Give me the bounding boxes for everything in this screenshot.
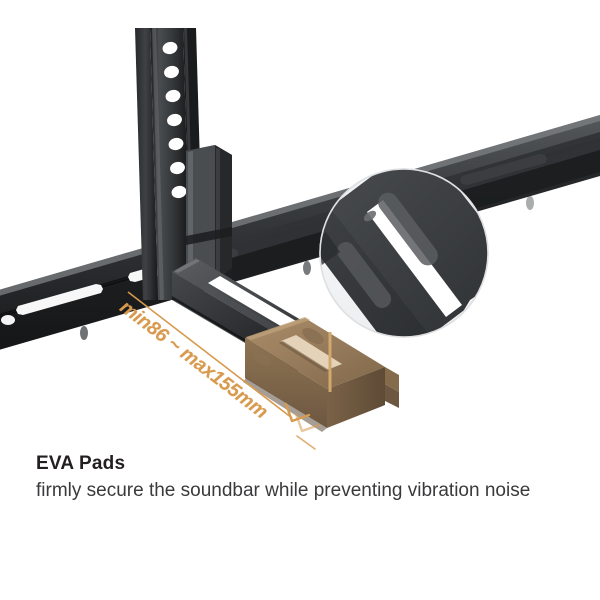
product-illustration-page: min86 ~ max155mm EVA Pads firmly secure …	[0, 0, 600, 600]
caption-title: EVA Pads	[36, 452, 592, 476]
mount-illustration	[0, 0, 600, 460]
eva-pad	[243, 317, 399, 432]
caption-body: firmly secure the soundbar while prevent…	[36, 478, 592, 504]
caption-block: EVA Pads firmly secure the soundbar whil…	[36, 452, 592, 504]
